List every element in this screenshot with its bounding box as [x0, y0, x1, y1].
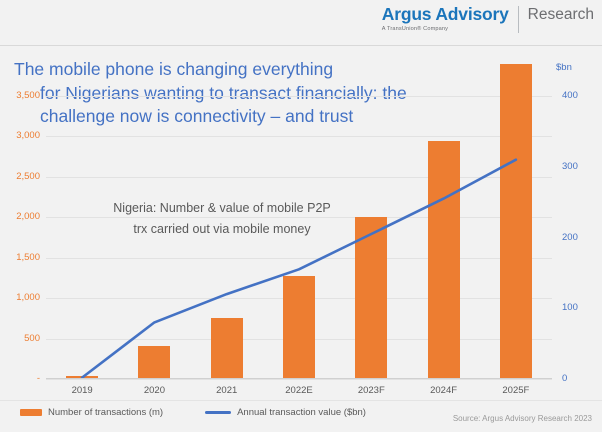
right-axis-tick-label: 0 — [562, 373, 567, 384]
gridline — [46, 379, 552, 380]
page-title-line-1: The mobile phone is changing everything — [14, 58, 514, 82]
legend-label-transactions: Number of transactions (m) — [48, 407, 163, 418]
x-axis-tick-label: 2024F — [408, 385, 480, 396]
argus-advisory-logo: Argus Advisory A TransUnion® Company Res… — [382, 5, 594, 33]
line-swatch-icon — [205, 411, 231, 414]
page-header: Argus Advisory A TransUnion® Company Res… — [0, 0, 602, 46]
x-axis-tick-label: 2025F — [480, 385, 552, 396]
legend-label-value: Annual transaction value ($bn) — [237, 407, 366, 418]
chart-annotation: Nigeria: Number & value of mobile P2P tr… — [72, 198, 372, 240]
right-axis-tick-label: 300 — [562, 161, 578, 172]
x-axis-tick-label: 2019 — [46, 385, 118, 396]
right-axis-tick-label: 400 — [562, 90, 578, 101]
x-axis-tick-label: 2021 — [191, 385, 263, 396]
x-axis-tick-label: 2022E — [263, 385, 335, 396]
left-axis-tick-label: 3,000 — [0, 130, 40, 141]
left-axis-tick-label: 1,000 — [0, 292, 40, 303]
header-divider — [0, 45, 602, 46]
chart-annotation-line-1: Nigeria: Number & value of mobile P2P — [72, 198, 372, 219]
right-axis-tick-label: 200 — [562, 232, 578, 243]
left-axis-tick-label: 2,500 — [0, 171, 40, 182]
left-axis-tick-label: - — [0, 373, 40, 384]
legend-item-transactions: Number of transactions (m) — [20, 407, 163, 418]
left-axis-tick-label: 500 — [0, 333, 40, 344]
logo-tagline: A TransUnion® Company — [382, 26, 448, 32]
logo-company-name: Argus Advisory — [382, 5, 509, 24]
chart-legend: Number of transactions (m) Annual transa… — [20, 407, 366, 418]
chart-annotation-line-2: trx carried out via mobile money — [72, 219, 372, 240]
bar-swatch-icon — [20, 409, 42, 416]
left-axis-tick-label: 2,000 — [0, 211, 40, 222]
left-axis-tick-label: 1,500 — [0, 252, 40, 263]
x-axis-tick-label: 2020 — [118, 385, 190, 396]
line-path — [82, 160, 516, 378]
right-axis-tick-label: 100 — [562, 302, 578, 313]
x-axis-line — [46, 378, 552, 379]
left-axis-tick-label: 3,500 — [0, 90, 40, 101]
source-note: Source: Argus Advisory Research 2023 — [453, 414, 592, 423]
logo-secondary-name: Research — [519, 5, 594, 24]
right-axis-unit-label: $bn — [556, 62, 572, 73]
x-axis-tick-label: 2023F — [335, 385, 407, 396]
logo-primary-block: Argus Advisory A TransUnion® Company — [382, 5, 518, 32]
footer-divider — [0, 400, 602, 401]
legend-item-value: Annual transaction value ($bn) — [205, 407, 366, 418]
